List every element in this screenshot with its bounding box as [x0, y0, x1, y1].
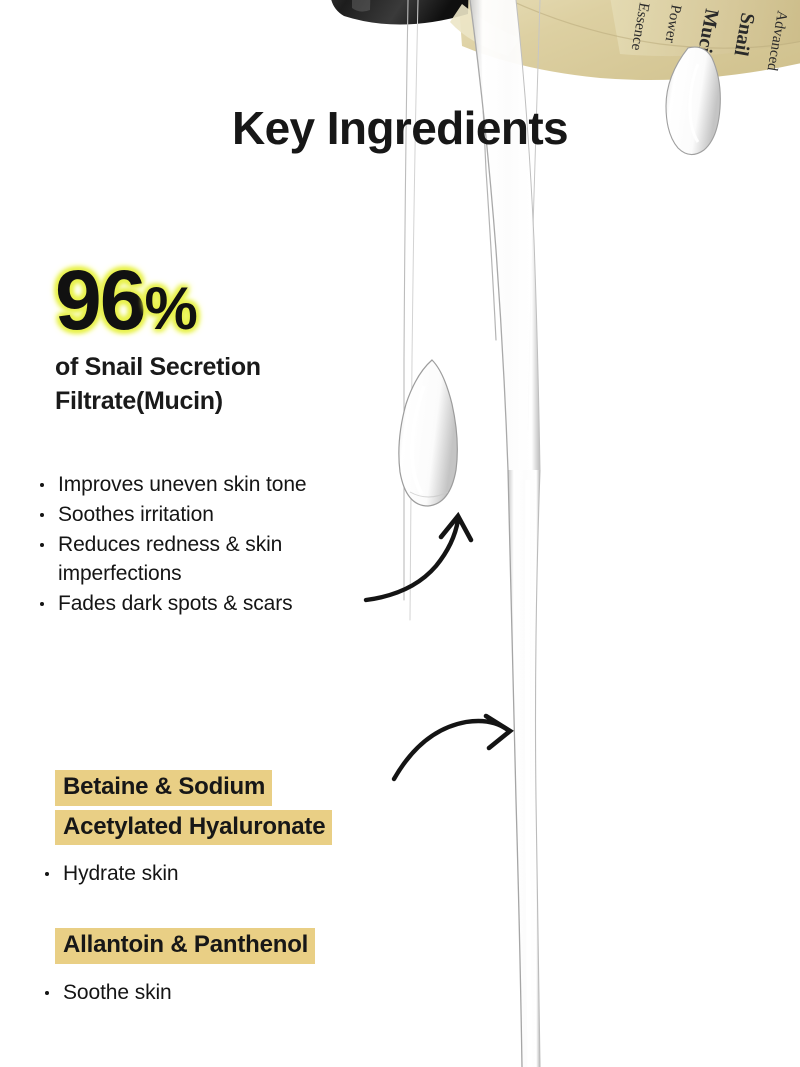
stat-caption-line-1: of Snail Secretion: [55, 353, 261, 381]
list-item: Soothe skin: [41, 978, 495, 1008]
ingredient-allantoin-block: Allantoin & Panthenol Soothe skin: [55, 928, 495, 1008]
svg-text:Essence: Essence: [628, 1, 652, 52]
svg-text:Mucin: Mucin: [691, 7, 722, 66]
ingredient-heading-text: Allantoin & Panthenol: [55, 928, 315, 964]
list-item: Soothes irritation: [36, 500, 396, 530]
ingredient-heading-line: Betaine & Sodium: [55, 770, 272, 806]
list-item: Fades dark spots & scars: [36, 589, 396, 619]
ingredient-benefits-list: Hydrate skin: [41, 859, 495, 889]
percent-symbol: %: [144, 275, 196, 342]
list-item-label: Improves uneven skin tone: [58, 473, 306, 496]
stat-caption-line-2: Filtrate(Mucin): [55, 387, 223, 415]
svg-text:Advanced: Advanced: [763, 9, 789, 72]
serum-bottle: [330, 0, 800, 80]
ingredient-heading-text: Acetylated Hyaluronate: [55, 810, 332, 846]
list-item: Improves uneven skin tone: [36, 470, 396, 500]
svg-text:Power: Power: [661, 3, 683, 44]
list-item-label: imperfections: [58, 562, 182, 585]
ingredient-benefits-list: Soothe skin: [41, 978, 495, 1008]
bottle-label-text: Advanced Snail Mucin Power Essence X X: [497, 0, 790, 72]
page-title: Key Ingredients: [0, 104, 800, 152]
serum-stream-long: [508, 470, 540, 1067]
ingredient-heading-line: Allantoin & Panthenol: [55, 928, 315, 964]
list-item-label: Soothe skin: [63, 981, 172, 1004]
ingredient-heading-text: Betaine & Sodium: [55, 770, 272, 806]
ingredient-betaine-block: Betaine & Sodium Acetylated Hyaluronate …: [55, 770, 495, 889]
stat-caption: of Snail Secretion Filtrate(Mucin): [55, 351, 355, 418]
list-item-label: Fades dark spots & scars: [58, 592, 293, 615]
list-item-continuation: imperfections: [36, 559, 396, 589]
list-item: Hydrate skin: [41, 859, 495, 889]
ingredient-heading-line: Acetylated Hyaluronate: [55, 810, 332, 846]
mucin-stat-block: 96% of Snail Secretion Filtrate(Mucin): [55, 262, 455, 418]
serum-pour-sheet: [470, 0, 540, 470]
list-item-label: Reduces redness & skin: [58, 533, 282, 556]
list-item-label: Soothes irritation: [58, 503, 214, 526]
stat-percentage: 96%: [55, 262, 455, 339]
mucin-benefits-list: Improves uneven skin tone Soothes irrita…: [36, 470, 396, 619]
ingredients-infographic: Advanced Snail Mucin Power Essence X X: [0, 0, 800, 1067]
stat-number-value: 96: [55, 253, 144, 347]
svg-text:Snail: Snail: [729, 11, 758, 58]
list-item: Reduces redness & skin: [36, 530, 396, 560]
list-item-label: Hydrate skin: [63, 862, 179, 885]
